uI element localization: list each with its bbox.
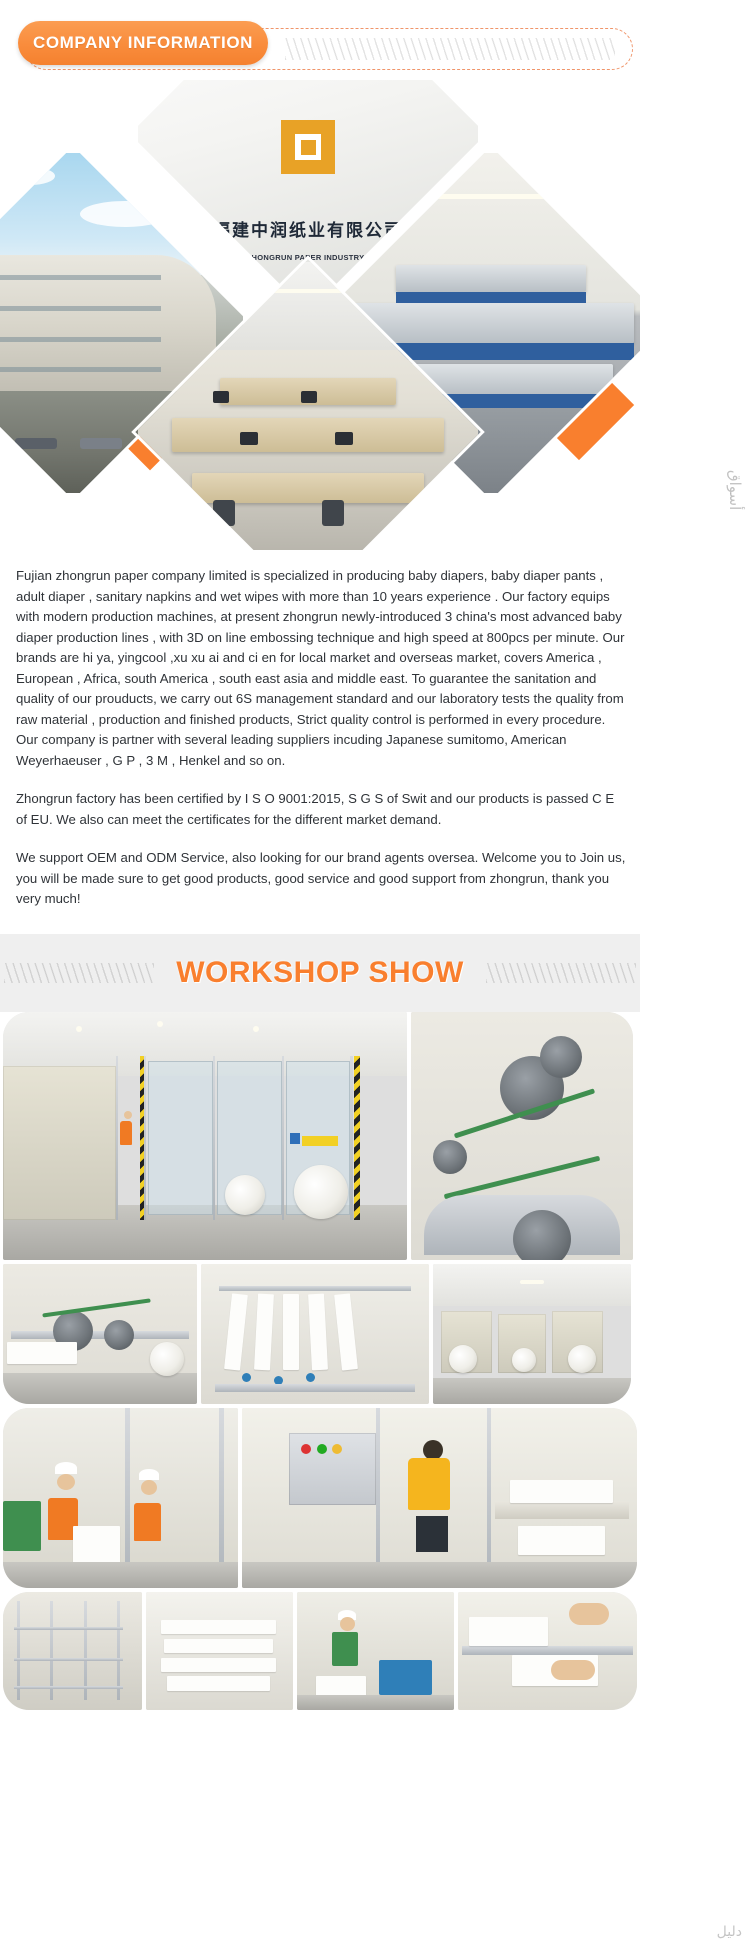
workshop-photo-grid bbox=[0, 1012, 640, 1730]
photo-roller-machine-closeup[interactable] bbox=[411, 1012, 633, 1260]
hatch-left-icon bbox=[4, 963, 154, 983]
photo-final-inspection[interactable] bbox=[458, 1592, 637, 1710]
product-detail-page: COMPANY INFORMATION bbox=[0, 0, 750, 1954]
photo-conveyor-rollers[interactable] bbox=[3, 1264, 197, 1404]
about-paragraph-3: We support OEM and ODM Service, also loo… bbox=[16, 848, 626, 910]
workshop-row bbox=[0, 1012, 640, 1260]
photo-production-line-hall[interactable] bbox=[3, 1012, 407, 1260]
hatch-right-icon bbox=[486, 963, 636, 983]
watermark-bottom: دليل bbox=[717, 1924, 742, 1940]
photo-web-tension-rollers[interactable] bbox=[201, 1264, 429, 1404]
about-paragraph-1: Fujian zhongrun paper company limited is… bbox=[16, 566, 626, 771]
watermark-right: أسواق bbox=[726, 470, 744, 510]
about-paragraph-2: Zhongrun factory has been certified by I… bbox=[16, 789, 626, 830]
photo-stacked-product[interactable] bbox=[146, 1592, 293, 1710]
company-description: Fujian zhongrun paper company limited is… bbox=[0, 550, 640, 934]
company-information-label: COMPANY INFORMATION bbox=[33, 33, 253, 53]
workshop-show-header: WORKSHOP SHOW bbox=[0, 934, 640, 1012]
workshop-row bbox=[0, 1264, 640, 1404]
photo-packing-station[interactable] bbox=[297, 1592, 454, 1710]
company-photo-collage: 福建中润纸业有限公司 FUJIAN ZHONGRUN PAPER INDUSTR… bbox=[0, 80, 640, 550]
workshop-row bbox=[0, 1408, 640, 1588]
company-information-badge: COMPANY INFORMATION bbox=[18, 21, 268, 65]
photo-workers-sorting[interactable] bbox=[3, 1408, 238, 1588]
zhongrun-logo-icon bbox=[281, 120, 335, 174]
photo-warehouse-racks[interactable] bbox=[3, 1592, 142, 1710]
photo-machine-hall-overview[interactable] bbox=[433, 1264, 631, 1404]
workshop-row bbox=[0, 1592, 640, 1710]
banner-hatch-pattern bbox=[285, 38, 615, 60]
company-information-banner: COMPANY INFORMATION bbox=[0, 14, 640, 74]
workshop-show-title: WORKSHOP SHOW bbox=[176, 956, 464, 990]
photo-control-panel-operator[interactable] bbox=[242, 1408, 637, 1588]
